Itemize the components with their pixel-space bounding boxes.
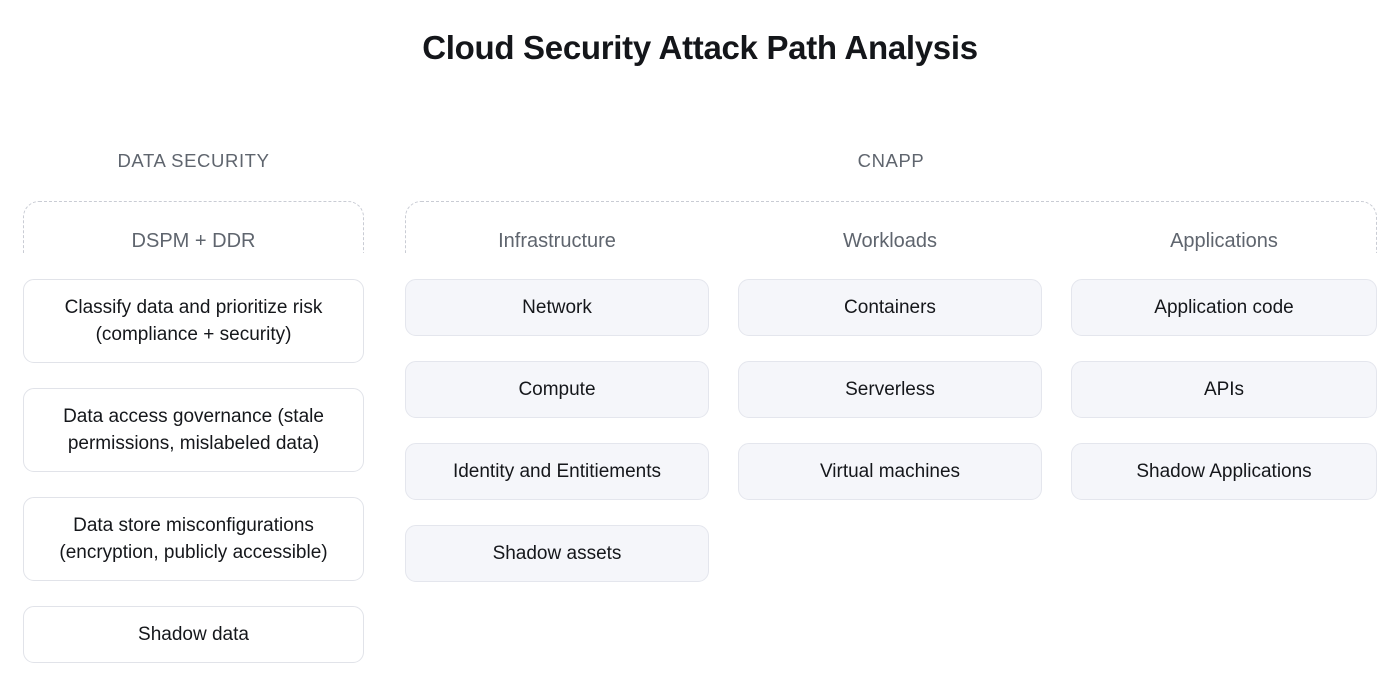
card-label: Classify data and prioritize risk (compl… [38, 294, 349, 348]
card-label: Shadow assets [493, 540, 622, 567]
card-label: Containers [844, 294, 936, 321]
card-label: Shadow data [138, 621, 249, 648]
card-shadow-data[interactable]: Shadow data [23, 606, 364, 663]
card-data-access-governance[interactable]: Data access governance (stale permission… [23, 388, 364, 472]
column-infrastructure: Network Compute Identity and Entitiement… [405, 279, 709, 582]
subgroup-label-applications: Applications [1071, 228, 1377, 254]
card-data-store-misconfigurations[interactable]: Data store misconfigurations (encryption… [23, 497, 364, 581]
subgroup-label-workloads: Workloads [738, 228, 1042, 254]
card-containers[interactable]: Containers [738, 279, 1042, 336]
card-network[interactable]: Network [405, 279, 709, 336]
card-label: Virtual machines [820, 458, 960, 485]
card-compute[interactable]: Compute [405, 361, 709, 418]
page-title: Cloud Security Attack Path Analysis [0, 26, 1400, 70]
card-label: Compute [518, 376, 595, 403]
group-header-cnapp: CNAPP [405, 149, 1377, 173]
subgroup-label-dspm-ddr: DSPM + DDR [23, 228, 364, 254]
card-label: Application code [1154, 294, 1293, 321]
card-apis[interactable]: APIs [1071, 361, 1377, 418]
card-label: Identity and Entitiements [453, 458, 661, 485]
card-label: Data store misconfigurations (encryption… [38, 512, 349, 566]
card-virtual-machines[interactable]: Virtual machines [738, 443, 1042, 500]
card-label: Shadow Applications [1136, 458, 1311, 485]
column-applications: Application code APIs Shadow Application… [1071, 279, 1377, 500]
card-label: APIs [1204, 376, 1244, 403]
subgroup-label-infrastructure: Infrastructure [405, 228, 709, 254]
card-shadow-assets[interactable]: Shadow assets [405, 525, 709, 582]
card-identity-and-entitlements[interactable]: Identity and Entitiements [405, 443, 709, 500]
card-classify-data[interactable]: Classify data and prioritize risk (compl… [23, 279, 364, 363]
card-label: Serverless [845, 376, 935, 403]
group-header-data-security: DATA SECURITY [23, 149, 364, 173]
column-dspm-ddr: Classify data and prioritize risk (compl… [23, 279, 364, 663]
diagram-canvas: Cloud Security Attack Path Analysis DATA… [0, 0, 1400, 700]
card-label: Network [522, 294, 592, 321]
card-label: Data access governance (stale permission… [38, 403, 349, 457]
column-workloads: Containers Serverless Virtual machines [738, 279, 1042, 500]
card-application-code[interactable]: Application code [1071, 279, 1377, 336]
card-serverless[interactable]: Serverless [738, 361, 1042, 418]
card-shadow-applications[interactable]: Shadow Applications [1071, 443, 1377, 500]
